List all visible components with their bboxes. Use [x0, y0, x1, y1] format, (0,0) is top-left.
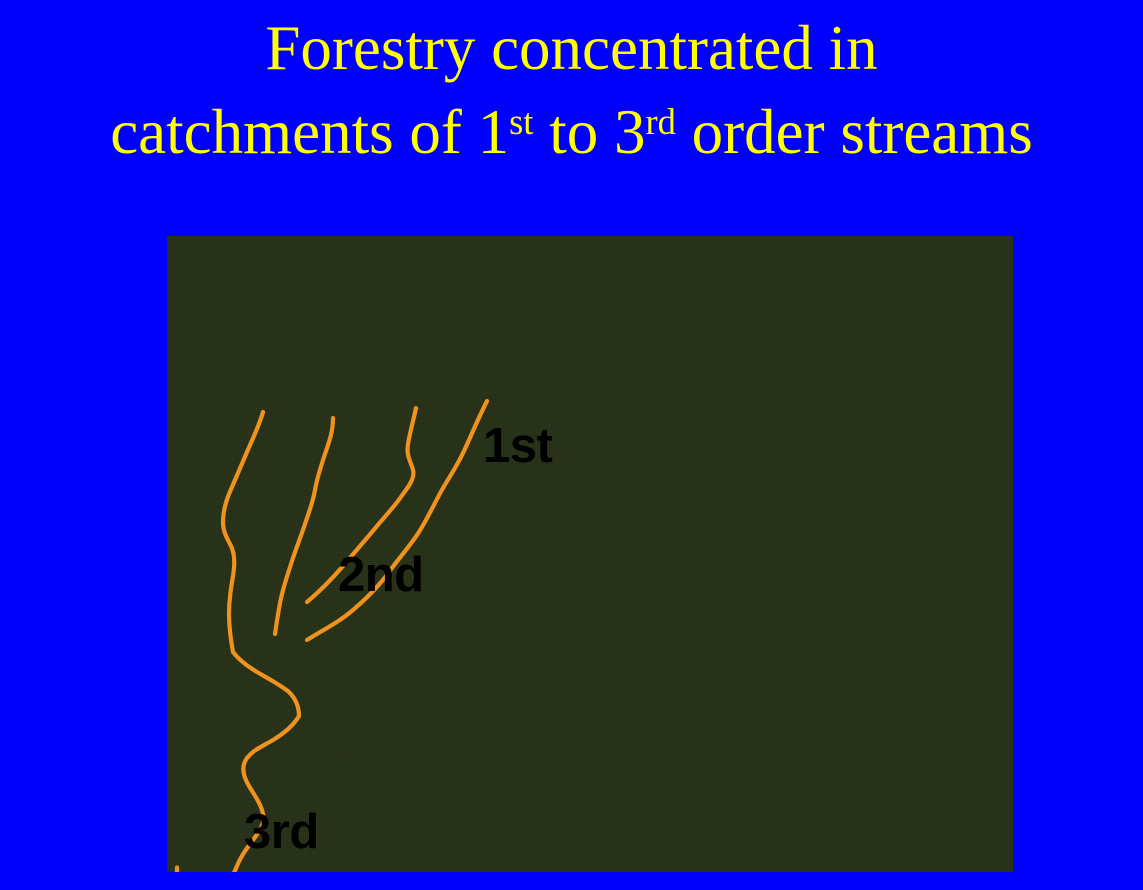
- gorse-clump-10: [407, 746, 455, 772]
- gorse-clump-14: [917, 706, 957, 726]
- gorse-clump-12: [215, 734, 255, 768]
- gorse-clump-13: [497, 776, 557, 800]
- title-line-2: catchments of 1st to 3rd order streams: [0, 90, 1143, 174]
- ordinal-suffix-st: st: [509, 101, 533, 142]
- gorse-clump-6: [937, 656, 987, 680]
- gorse-clump-9: [807, 726, 897, 756]
- gorse-clump-5: [857, 636, 909, 658]
- gorse-clump-3: [687, 676, 731, 698]
- farm-house: [372, 731, 406, 749]
- sky-band: [167, 236, 1013, 282]
- slide-canvas: Forestry concentrated in catchments of 1…: [0, 0, 1143, 890]
- title-line-2-part-a: catchments of 1: [110, 97, 509, 167]
- page-title: Forestry concentrated in catchments of 1…: [0, 6, 1143, 174]
- stream-order-label-2nd: 2nd: [338, 551, 424, 600]
- title-line-2-part-b: to 3: [533, 97, 645, 167]
- gorse-clump-8: [637, 761, 709, 789]
- title-line-1: Forestry concentrated in: [0, 6, 1143, 90]
- valley-photograph: 1st 2nd 3rd: [167, 236, 1013, 872]
- gorse-clump-2: [607, 658, 667, 684]
- gorse-clump-4: [767, 646, 807, 666]
- stream-order-label-3rd: 3rd: [244, 808, 319, 857]
- gorse-clump-1: [555, 668, 601, 692]
- gorse-clump-7: [727, 746, 813, 776]
- title-line-2-part-c: order streams: [676, 97, 1033, 167]
- gorse-clump-11: [227, 688, 271, 728]
- ordinal-suffix-rd: rd: [645, 101, 675, 142]
- stream-order-label-1st: 1st: [483, 422, 552, 471]
